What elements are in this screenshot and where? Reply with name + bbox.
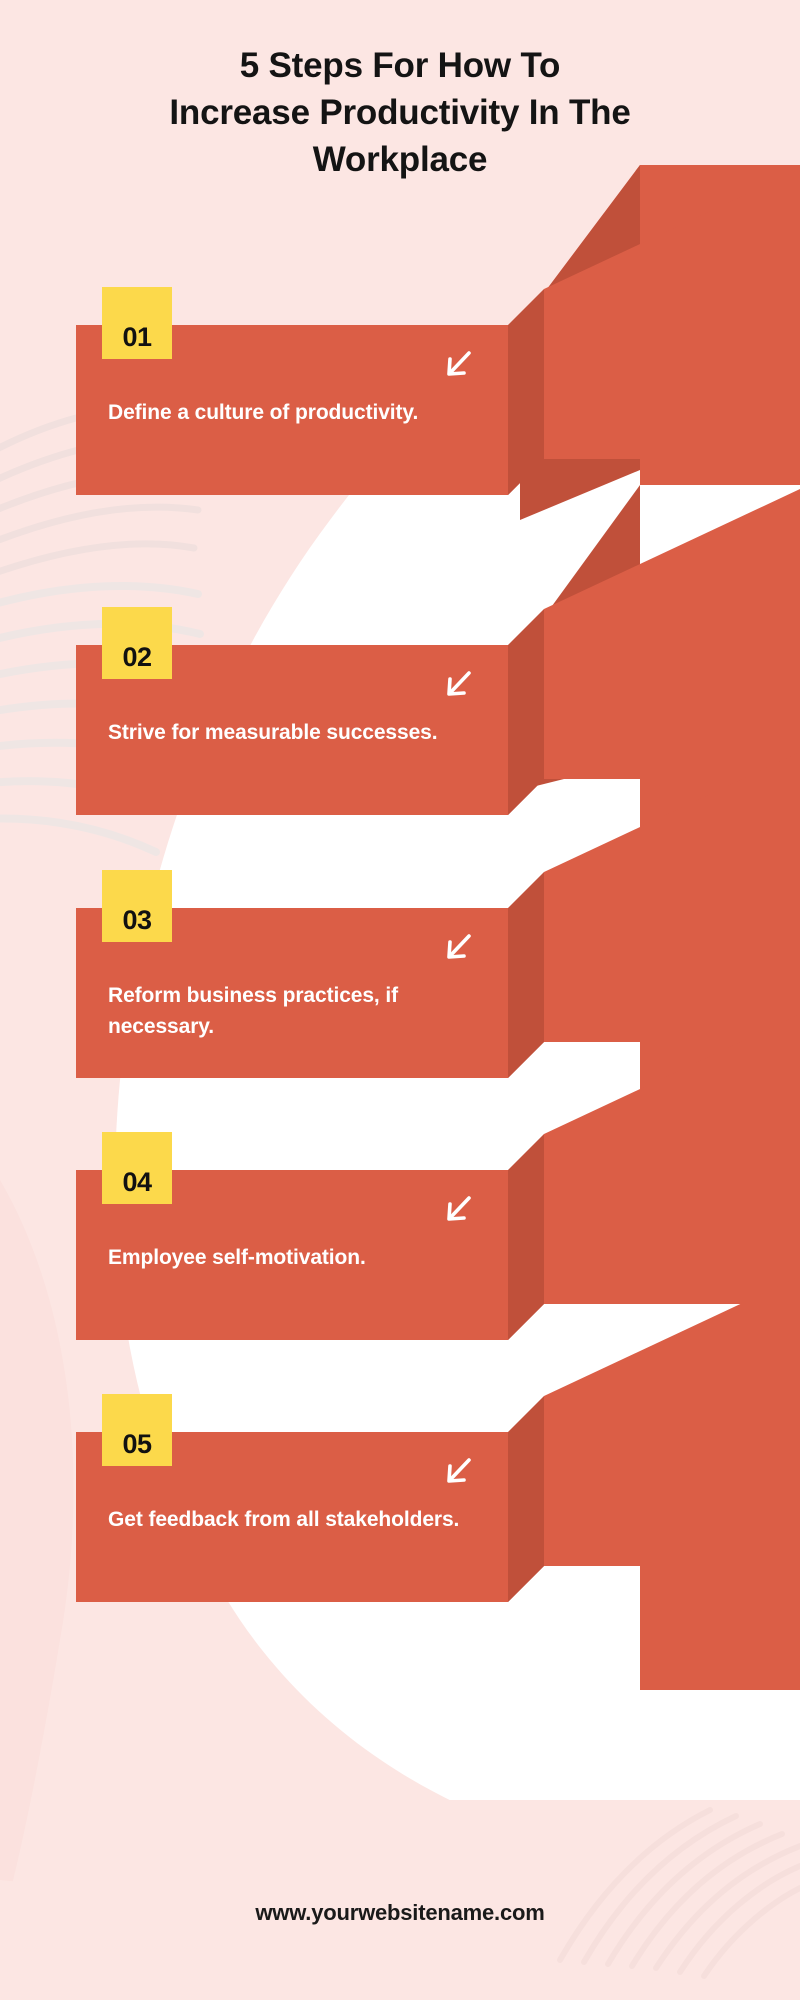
arrow-down-left-icon-5	[442, 1454, 476, 1488]
step-text-2: Strive for measurable successes.	[108, 717, 468, 748]
step-number-5: 05	[122, 1431, 151, 1458]
step-badge-3: 03	[102, 870, 172, 942]
step-badge-4: 04	[102, 1132, 172, 1204]
website-url[interactable]: www.yourwebsitename.com	[255, 1900, 544, 1925]
steps-list: 01 Define a culture of productivity. 02 …	[0, 0, 800, 2000]
step-badge-1: 01	[102, 287, 172, 359]
step-card-side-2	[508, 645, 544, 815]
arrow-down-left-icon-3	[442, 930, 476, 964]
step-number-2: 02	[122, 644, 151, 671]
footer: www.yourwebsitename.com	[0, 1900, 800, 1926]
page-title: 5 Steps For How To Increase Productivity…	[0, 42, 800, 183]
step-text-1: Define a culture of productivity.	[108, 397, 468, 428]
step-badge-2: 02	[102, 607, 172, 679]
infographic-canvas: 5 Steps For How To Increase Productivity…	[0, 0, 800, 2000]
step-card-side-3	[508, 908, 544, 1078]
step-number-3: 03	[122, 907, 151, 934]
arrow-down-left-icon-1	[442, 347, 476, 381]
arrow-down-left-icon-2	[442, 667, 476, 701]
step-number-1: 01	[122, 324, 151, 351]
step-text-4: Employee self-motivation.	[108, 1242, 468, 1273]
step-card-side-5	[508, 1432, 544, 1602]
step-card-side-4	[508, 1170, 544, 1340]
arrow-down-left-icon-4	[442, 1192, 476, 1226]
step-text-5: Get feedback from all stakeholders.	[108, 1504, 468, 1535]
page-title-line-3: Workplace	[0, 136, 800, 183]
page-title-line-1: 5 Steps For How To	[0, 42, 800, 89]
step-text-3: Reform business practices, if necessary.	[108, 980, 468, 1042]
step-card-side-1	[508, 325, 544, 495]
step-badge-5: 05	[102, 1394, 172, 1466]
step-number-4: 04	[122, 1169, 151, 1196]
page-title-line-2: Increase Productivity In The	[0, 89, 800, 136]
